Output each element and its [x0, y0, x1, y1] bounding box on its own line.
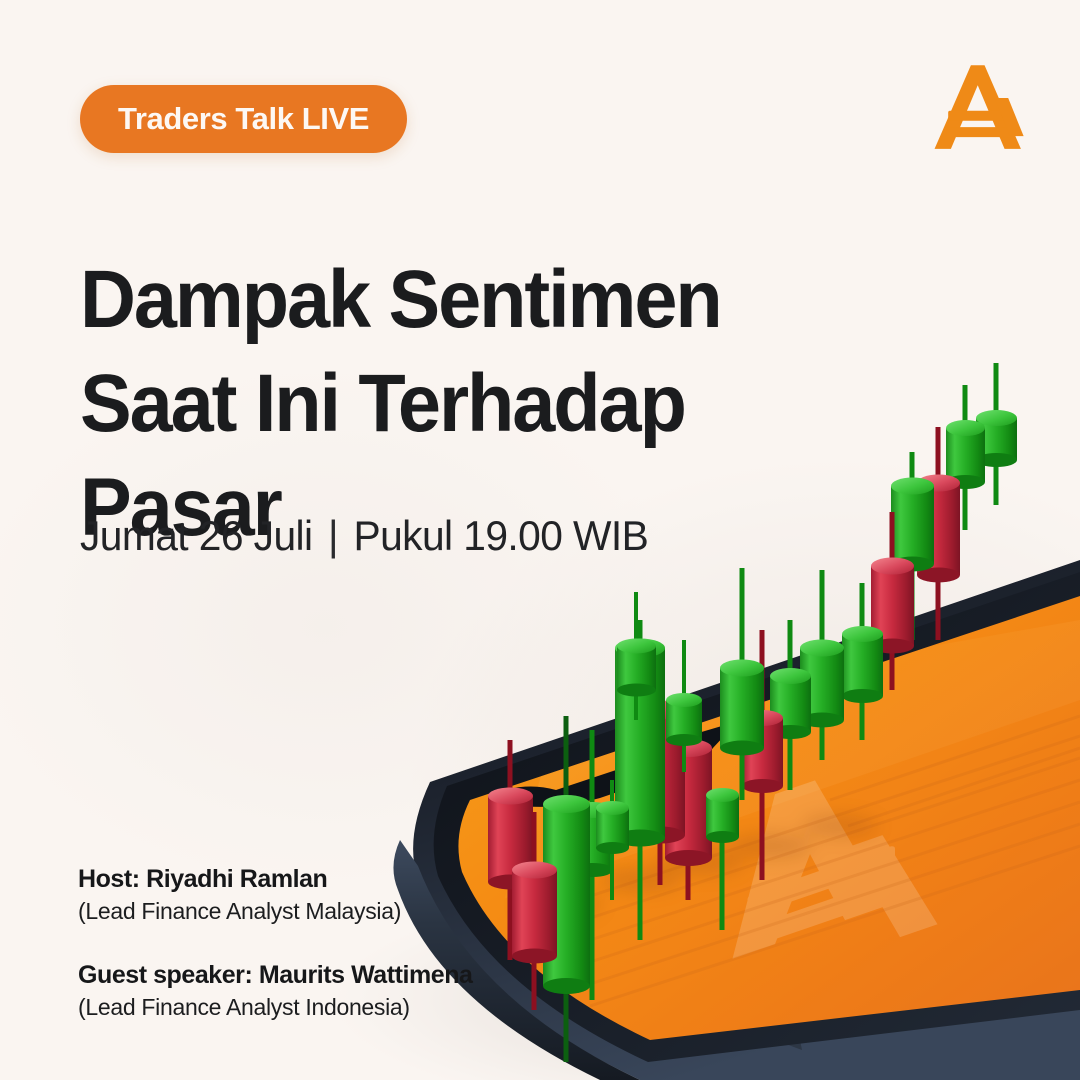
- guest-name: Guest speaker: Maurits Wattimena: [78, 961, 473, 990]
- event-date: Jumat 26 Juli: [80, 512, 312, 560]
- guest-role: (Lead Finance Analyst Indonesia): [78, 994, 473, 1021]
- schedule-separator: |: [328, 512, 338, 560]
- akademi-a-logo-icon: [935, 65, 1024, 149]
- host-role: (Lead Finance Analyst Malaysia): [78, 898, 473, 925]
- credits-spacer: [78, 925, 473, 961]
- event-time: Pukul 19.00 WIB: [354, 512, 649, 560]
- live-badge-label: Traders Talk LIVE: [118, 101, 369, 137]
- poster-canvas: Traders Talk LIVE Dampak Sentimen Saat I…: [0, 0, 1080, 1080]
- brand-logo: [930, 58, 1030, 158]
- credits-block: Host: Riyadhi Ramlan (Lead Finance Analy…: [78, 865, 473, 1021]
- host-name: Host: Riyadhi Ramlan: [78, 865, 473, 894]
- event-schedule: Jumat 26 Juli | Pukul 19.00 WIB: [80, 512, 648, 560]
- live-badge[interactable]: Traders Talk LIVE: [80, 85, 407, 153]
- headline-line-1: Dampak Sentimen: [80, 248, 760, 352]
- headline-line-2: Saat Ini Terhadap: [80, 352, 760, 456]
